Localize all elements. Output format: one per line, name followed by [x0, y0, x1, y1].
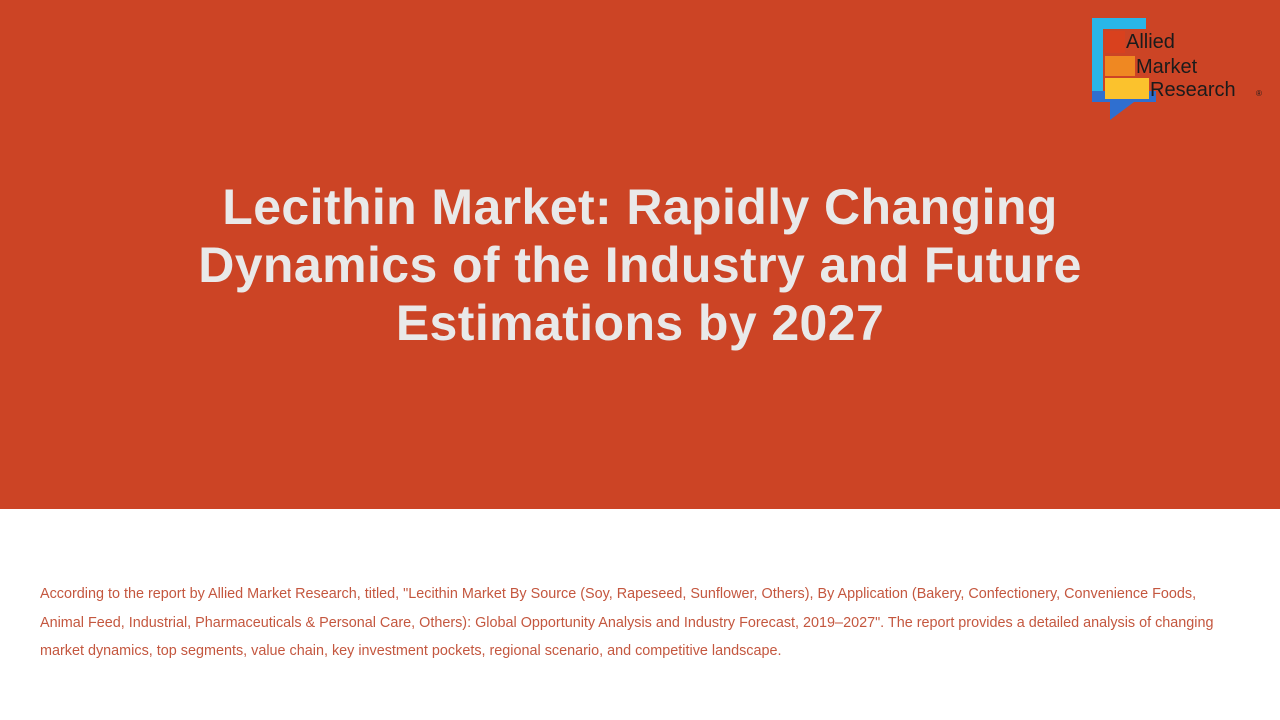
hero-banner: Allied Market Research ® Lecithin Market… — [0, 0, 1280, 509]
logo-mark-icon: Allied Market Research ® — [1088, 16, 1272, 120]
page-title-line-2: Dynamics of the Industry and Future — [90, 236, 1190, 294]
allied-market-research-logo: Allied Market Research ® — [1088, 16, 1272, 120]
logo-text-market: Market — [1136, 56, 1198, 78]
page-title-line-1: Lecithin Market: Rapidly Changing — [90, 178, 1190, 236]
page-title-line-3: Estimations by 2027 — [90, 294, 1190, 352]
report-summary-paragraph: According to the report by Allied Market… — [40, 580, 1215, 666]
logo-text-allied: Allied — [1126, 31, 1175, 53]
logo-trademark-symbol: ® — [1256, 89, 1262, 98]
page-title: Lecithin Market: Rapidly Changing Dynami… — [90, 178, 1190, 352]
logo-text-research: Research — [1150, 79, 1236, 101]
